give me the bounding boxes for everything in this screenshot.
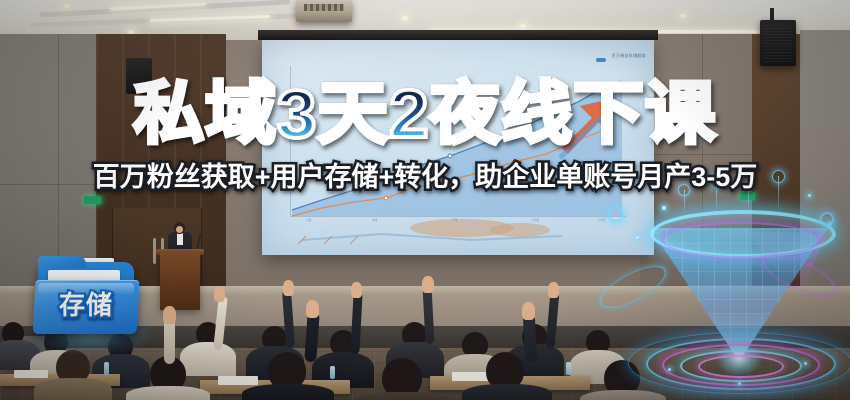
folder-tab [38, 256, 86, 268]
floating-node-icon [820, 212, 834, 226]
storage-folder-badge: 存储 [32, 256, 150, 356]
screen-frame [258, 30, 658, 40]
wall-speaker-icon [760, 20, 796, 66]
page-subtitle: 百万粉丝获取+用户存储+转化，助企业单账号月产3-5万 [0, 160, 850, 194]
storage-badge-label: 存储 [34, 286, 138, 324]
downlight [680, 14, 686, 18]
exit-sign-icon [84, 196, 101, 204]
floating-node-icon [608, 206, 624, 222]
ceiling-projector-icon [296, 0, 352, 22]
downlight [402, 16, 408, 20]
podium [160, 252, 200, 310]
chart-legend-marker [596, 58, 606, 62]
downlight [520, 24, 526, 28]
course-promo-banner: 百万粉丝年增趋势 1月 4月 7月 10月 12月 [0, 0, 850, 400]
page-title: 私域3天2夜线下课 [0, 78, 850, 150]
chart-legend-label: 百万粉丝年增趋势 [612, 53, 646, 59]
downlight [64, 4, 70, 8]
